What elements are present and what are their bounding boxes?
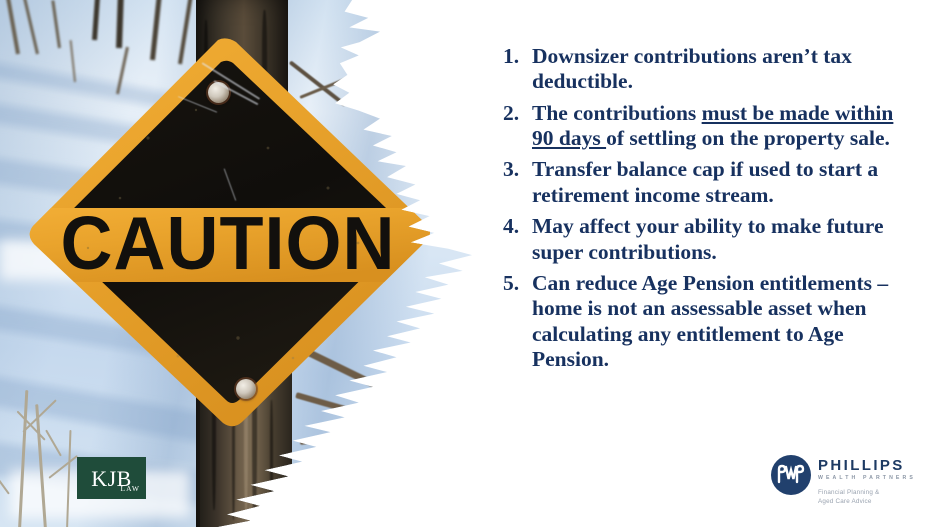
key-point-text: The contributions must be made within 90… <box>532 101 893 150</box>
key-point-number: 3. <box>503 157 527 182</box>
phillips-logo-subtitle: WEALTH PARTNERS <box>818 476 928 481</box>
key-point-item: 2.The contributions must be made within … <box>498 101 916 152</box>
slide-canvas: CAUTION <box>0 0 936 527</box>
kjb-law-logo[interactable]: KJB LAW <box>77 457 146 499</box>
caution-sign-shape: CAUTION <box>28 38 432 428</box>
phillips-tagline-line-1: Financial Planning & <box>818 489 928 498</box>
key-points-panel: 1.Downsizer contributions aren’t tax ded… <box>498 44 916 378</box>
photo-panel: CAUTION <box>0 0 472 527</box>
key-point-item: 5.Can reduce Age Pension entitlements – … <box>498 271 916 372</box>
key-point-text: May affect your ability to make future s… <box>532 214 884 263</box>
phillips-logo-text: PHILLIPS WEALTH PARTNERS Financial Plann… <box>818 458 928 506</box>
key-point-text: Downsizer contributions aren’t tax deduc… <box>532 44 852 93</box>
key-point-number: 1. <box>503 44 527 69</box>
key-point-number: 5. <box>503 271 527 296</box>
key-point-item: 1.Downsizer contributions aren’t tax ded… <box>498 44 916 95</box>
phillips-logo-name: PHILLIPS <box>818 458 928 473</box>
photo-torn-edge-mask: CAUTION <box>0 0 472 527</box>
key-point-segment: of settling on the property sale. <box>606 126 890 150</box>
sign-bolt-top <box>208 82 229 103</box>
key-points-list: 1.Downsizer contributions aren’t tax ded… <box>498 44 916 372</box>
key-point-segment: Downsizer contributions aren’t tax deduc… <box>532 44 852 93</box>
key-point-number: 2. <box>503 101 527 126</box>
sign-bolt-bottom <box>236 379 256 399</box>
key-point-segment: Transfer balance cap if used to start a … <box>532 157 878 206</box>
caution-sign: CAUTION <box>28 38 432 428</box>
key-point-number: 4. <box>503 214 527 239</box>
key-point-segment: Can reduce Age Pension entitlements – ho… <box>532 271 888 371</box>
caution-sign-svg: CAUTION <box>28 38 432 428</box>
key-point-item: 3.Transfer balance cap if used to start … <box>498 157 916 208</box>
phillips-monogram-icon <box>770 454 812 496</box>
key-point-segment: The contributions <box>532 101 702 125</box>
key-point-text: Transfer balance cap if used to start a … <box>532 157 878 206</box>
key-point-segment: May affect your ability to make future s… <box>532 214 884 263</box>
phillips-tagline-line-2: Aged Care Advice <box>818 498 928 507</box>
caution-sign-text: CAUTION <box>61 200 396 285</box>
phillips-logo-tagline: Financial Planning & Aged Care Advice <box>818 489 928 506</box>
key-point-item: 4.May affect your ability to make future… <box>498 214 916 265</box>
phillips-wealth-partners-logo[interactable]: PHILLIPS WEALTH PARTNERS Financial Plann… <box>770 452 928 508</box>
key-point-text: Can reduce Age Pension entitlements – ho… <box>532 271 888 371</box>
kjb-logo-sub: LAW <box>121 485 140 493</box>
